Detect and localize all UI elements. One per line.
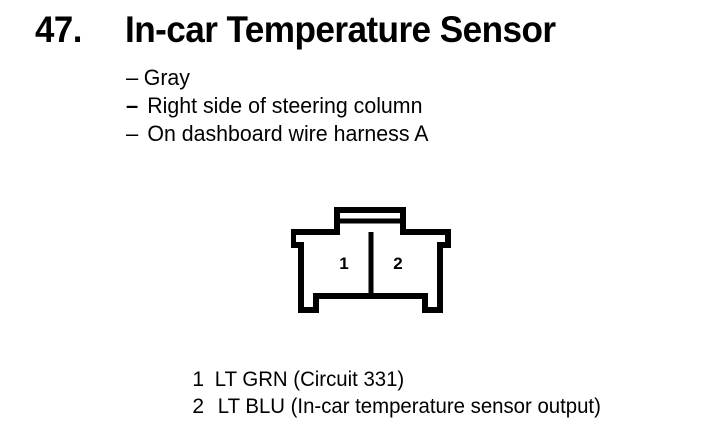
page-title: In-car Temperature Sensor: [125, 8, 555, 52]
dash-icon: –: [126, 92, 143, 120]
cavity-label-2: 2: [393, 254, 402, 273]
list-item-label: Gray: [144, 64, 190, 92]
list-item: – Gray: [126, 64, 646, 92]
dash-icon: –: [126, 120, 143, 148]
connector-diagram: 1 2: [291, 205, 451, 315]
list-item-label: Right side of steering column: [147, 92, 422, 120]
list-item: 2 LT BLU (In-car temperature sensor outp…: [182, 393, 682, 420]
list-item: – Right side of steering column: [126, 92, 646, 120]
legend-pin-number: 2: [182, 393, 204, 420]
connector-outline-group: [293, 210, 448, 310]
legend-pin-number: 1: [182, 366, 204, 393]
pin-legend: 1 LT GRN (Circuit 331) 2 LT BLU (In-car …: [182, 366, 682, 420]
page-heading: 47. In-car Temperature Sensor: [0, 8, 704, 52]
list-item: 1 LT GRN (Circuit 331): [182, 366, 682, 393]
list-item: – On dashboard wire harness A: [126, 120, 646, 148]
cavity-label-1: 1: [339, 254, 348, 273]
wiring-diagram-page: 47. In-car Temperature Sensor – Gray – R…: [0, 0, 704, 438]
legend-pin-description: LT GRN (Circuit 331): [207, 366, 404, 393]
description-bullet-list: – Gray – Right side of steering column –…: [126, 64, 646, 148]
list-item-label: On dashboard wire harness A: [147, 120, 428, 148]
legend-pin-description: LT BLU (In-car temperature sensor output…: [210, 393, 601, 420]
dash-icon: –: [126, 64, 143, 92]
item-number: 47.: [35, 8, 82, 52]
